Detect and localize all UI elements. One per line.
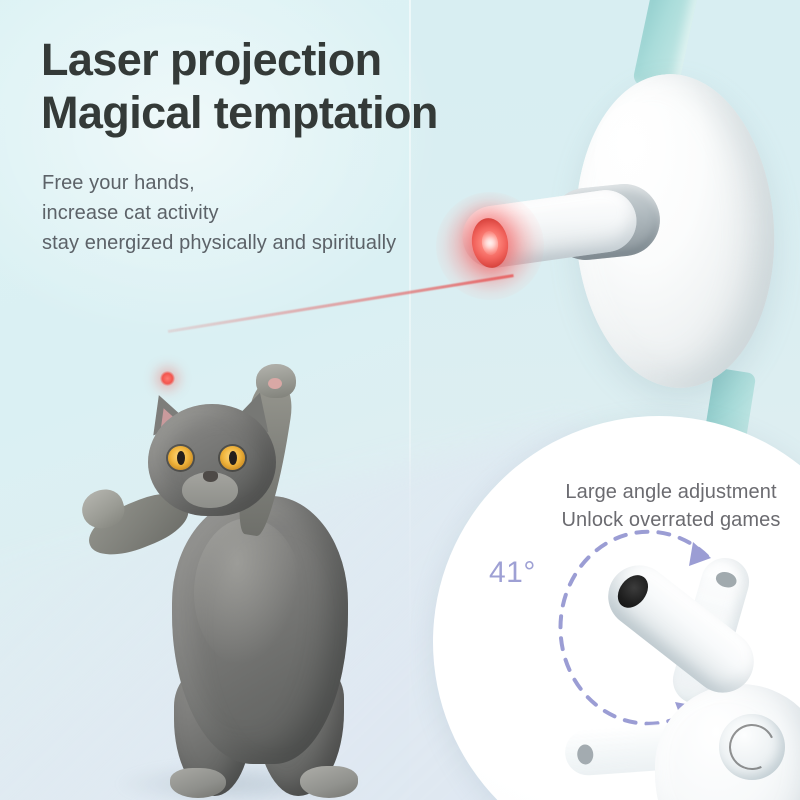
headline-line-2: Magical temptation <box>41 86 438 139</box>
cat-eye-left <box>168 446 193 470</box>
callout-device-hinge <box>719 714 785 780</box>
headline: Laser projection Magical temptation <box>41 33 438 139</box>
product-ad-banner: Laser projection Magical temptation Free… <box>0 0 800 800</box>
subcopy: Free your hands, increase cat activity s… <box>42 168 396 258</box>
cat-foot-left <box>170 768 226 798</box>
cat-photo <box>60 368 405 800</box>
callout-title-line-1: Large angle adjustment <box>511 478 800 506</box>
cat-nose <box>203 471 218 482</box>
subcopy-line-2: increase cat activity <box>42 198 396 228</box>
cat-chest-highlight <box>194 518 302 668</box>
headline-line-1: Laser projection <box>41 33 438 86</box>
cat-pupil-left <box>177 451 185 465</box>
cat-eye-right <box>220 446 245 470</box>
subcopy-line-1: Free your hands, <box>42 168 396 198</box>
cat-foot-right <box>300 766 358 798</box>
subcopy-line-3: stay energized physically and spirituall… <box>42 228 396 258</box>
cat-pupil-right <box>229 451 237 465</box>
laser-device <box>470 0 800 440</box>
callout-device-illustration <box>543 536 800 800</box>
